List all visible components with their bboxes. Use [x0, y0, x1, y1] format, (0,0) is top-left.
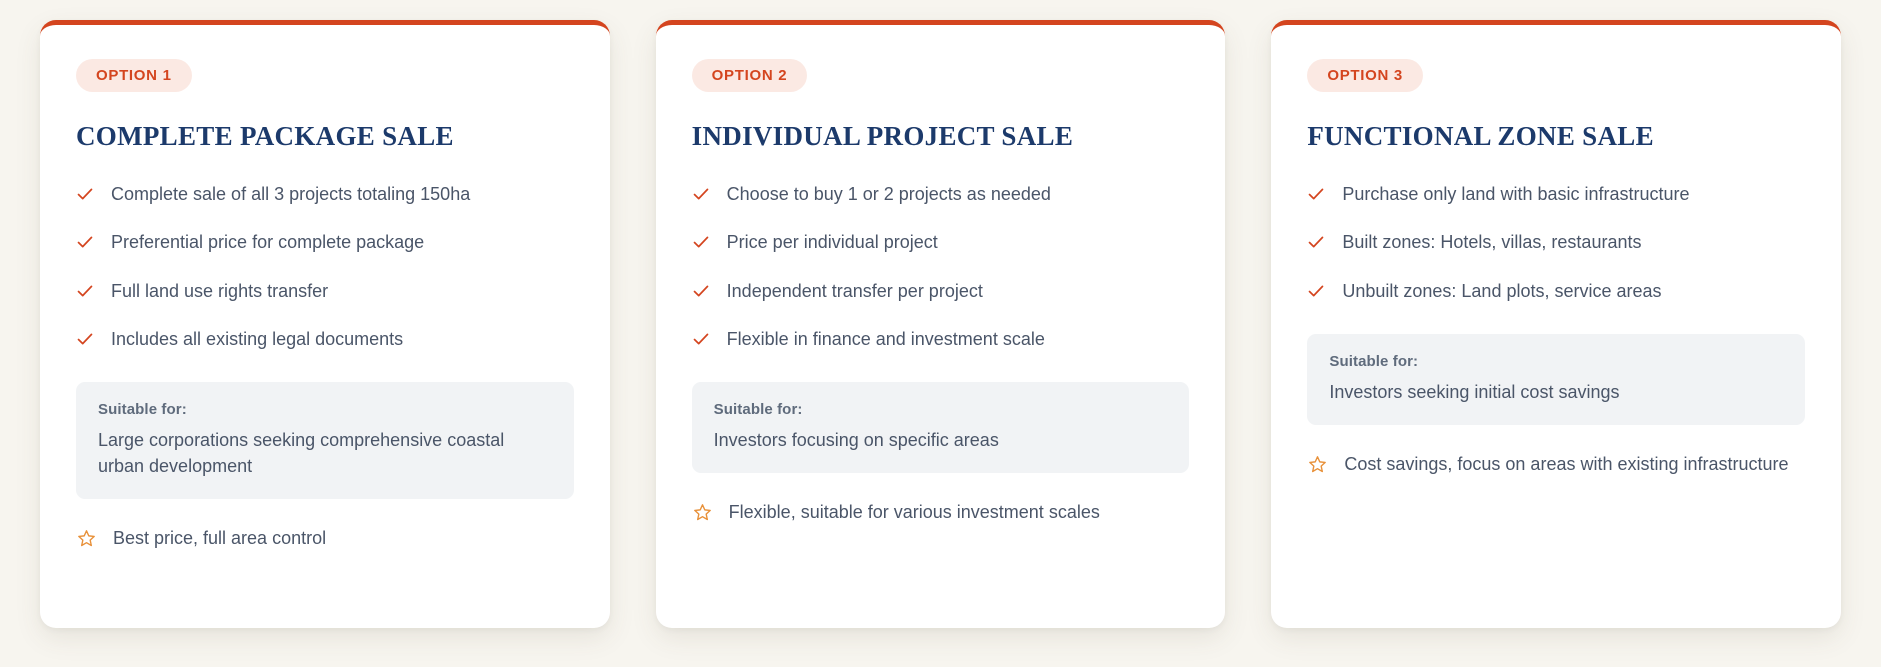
star-icon	[692, 502, 713, 523]
feature-item: Unbuilt zones: Land plots, service areas	[1307, 279, 1805, 303]
suitable-for-text: Investors focusing on specific areas	[714, 427, 1168, 453]
suitable-for-text: Large corporations seeking comprehensive…	[98, 427, 552, 479]
option-badge-2: OPTION 2	[692, 59, 808, 92]
highlight-row-2: Flexible, suitable for various investmen…	[692, 500, 1190, 524]
feature-text: Full land use rights transfer	[111, 279, 328, 303]
check-icon	[692, 233, 710, 251]
check-icon	[76, 330, 94, 348]
check-icon	[76, 185, 94, 203]
highlight-text: Best price, full area control	[113, 526, 326, 550]
feature-text: Purchase only land with basic infrastruc…	[1342, 182, 1689, 206]
highlight-row-1: Best price, full area control	[76, 526, 574, 550]
feature-item: Independent transfer per project	[692, 279, 1190, 303]
feature-text: Built zones: Hotels, villas, restaurants	[1342, 230, 1641, 254]
suitable-for-label: Suitable for:	[98, 401, 552, 418]
check-icon	[692, 330, 710, 348]
pricing-options-row: OPTION 1 COMPLETE PACKAGE SALE Complete …	[0, 0, 1881, 667]
feature-item: Includes all existing legal documents	[76, 327, 574, 351]
highlight-text: Cost savings, focus on areas with existi…	[1344, 452, 1788, 476]
suitable-for-label: Suitable for:	[714, 401, 1168, 418]
star-icon	[1307, 454, 1328, 475]
feature-text: Price per individual project	[727, 230, 938, 254]
feature-text: Choose to buy 1 or 2 projects as needed	[727, 182, 1051, 206]
option-badge-1: OPTION 1	[76, 59, 192, 92]
feature-item: Preferential price for complete package	[76, 230, 574, 254]
check-icon	[692, 282, 710, 300]
option-card-1[interactable]: OPTION 1 COMPLETE PACKAGE SALE Complete …	[40, 20, 610, 628]
card-title-2: INDIVIDUAL PROJECT SALE	[692, 121, 1190, 152]
feature-item: Choose to buy 1 or 2 projects as needed	[692, 182, 1190, 206]
feature-list-1: Complete sale of all 3 projects totaling…	[76, 182, 574, 351]
feature-item: Price per individual project	[692, 230, 1190, 254]
feature-item: Purchase only land with basic infrastruc…	[1307, 182, 1805, 206]
feature-list-2: Choose to buy 1 or 2 projects as needed …	[692, 182, 1190, 351]
feature-text: Preferential price for complete package	[111, 230, 424, 254]
option-card-3[interactable]: OPTION 3 FUNCTIONAL ZONE SALE Purchase o…	[1271, 20, 1841, 628]
highlight-text: Flexible, suitable for various investmen…	[729, 500, 1100, 524]
feature-text: Includes all existing legal documents	[111, 327, 403, 351]
feature-item: Flexible in finance and investment scale	[692, 327, 1190, 351]
suitable-for-box-3: Suitable for: Investors seeking initial …	[1307, 334, 1805, 425]
feature-text: Complete sale of all 3 projects totaling…	[111, 182, 470, 206]
check-icon	[76, 282, 94, 300]
check-icon	[1307, 185, 1325, 203]
feature-text: Unbuilt zones: Land plots, service areas	[1342, 279, 1661, 303]
feature-list-3: Purchase only land with basic infrastruc…	[1307, 182, 1805, 303]
highlight-row-3: Cost savings, focus on areas with existi…	[1307, 452, 1805, 476]
suitable-for-box-1: Suitable for: Large corporations seeking…	[76, 382, 574, 499]
check-icon	[1307, 233, 1325, 251]
option-card-2[interactable]: OPTION 2 INDIVIDUAL PROJECT SALE Choose …	[656, 20, 1226, 628]
suitable-for-text: Investors seeking initial cost savings	[1329, 379, 1783, 405]
suitable-for-label: Suitable for:	[1329, 353, 1783, 370]
feature-item: Built zones: Hotels, villas, restaurants	[1307, 230, 1805, 254]
feature-item: Full land use rights transfer	[76, 279, 574, 303]
feature-text: Flexible in finance and investment scale	[727, 327, 1045, 351]
check-icon	[1307, 282, 1325, 300]
suitable-for-box-2: Suitable for: Investors focusing on spec…	[692, 382, 1190, 473]
check-icon	[692, 185, 710, 203]
option-badge-3: OPTION 3	[1307, 59, 1423, 92]
feature-item: Complete sale of all 3 projects totaling…	[76, 182, 574, 206]
check-icon	[76, 233, 94, 251]
card-title-1: COMPLETE PACKAGE SALE	[76, 121, 574, 152]
card-title-3: FUNCTIONAL ZONE SALE	[1307, 121, 1805, 152]
feature-text: Independent transfer per project	[727, 279, 983, 303]
star-icon	[76, 528, 97, 549]
